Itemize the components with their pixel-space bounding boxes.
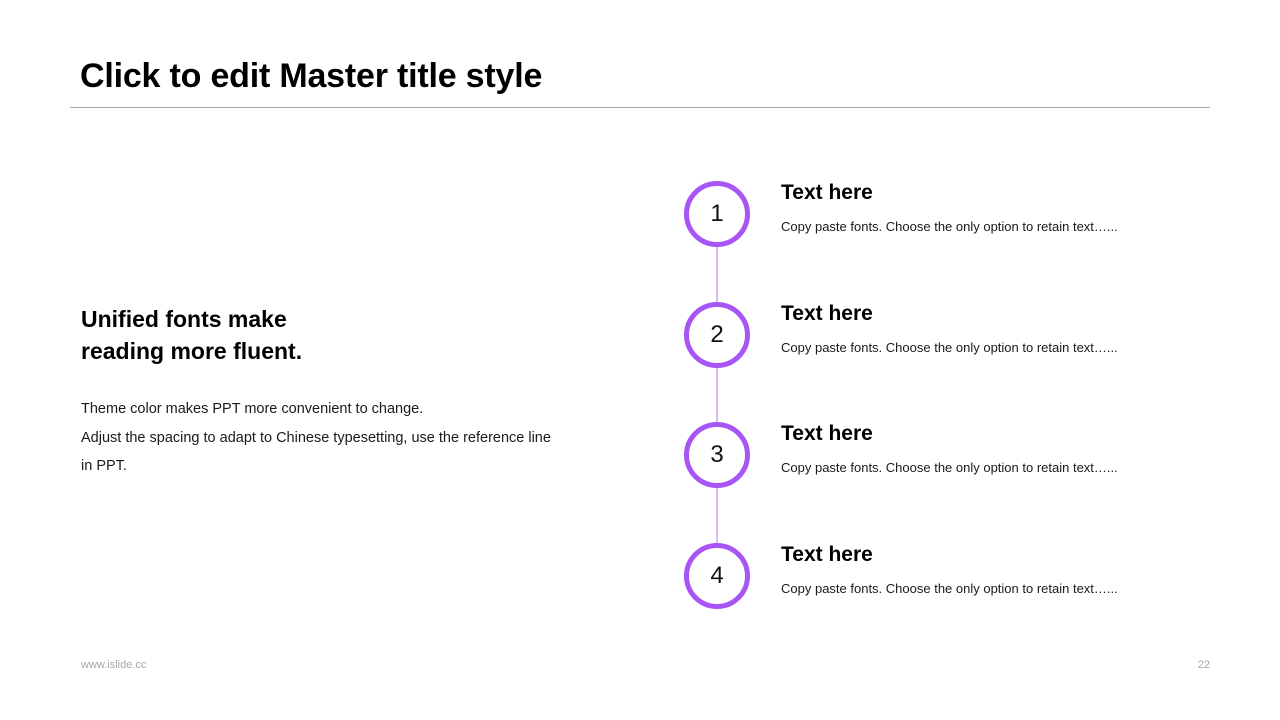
- timeline-item-description[interactable]: Copy paste fonts. Choose the only option…: [781, 219, 1181, 236]
- timeline-item[interactable]: 3 Text here Copy paste fonts. Choose the…: [684, 422, 1184, 488]
- page-title[interactable]: Click to edit Master title style: [80, 58, 1210, 95]
- left-body-line-1: Theme color makes PPT more convenient to…: [81, 395, 606, 423]
- timeline-connector-1-2: [716, 247, 718, 302]
- left-heading-line-2: reading more fluent.: [81, 336, 606, 368]
- timeline-item-heading[interactable]: Text here: [781, 421, 1181, 446]
- timeline-item[interactable]: 2 Text here Copy paste fonts. Choose the…: [684, 302, 1184, 368]
- timeline-item[interactable]: 4 Text here Copy paste fonts. Choose the…: [684, 543, 1184, 609]
- timeline-step-marker[interactable]: 1: [684, 181, 750, 247]
- timeline-connector-2-3: [716, 368, 718, 422]
- timeline-item-heading[interactable]: Text here: [781, 180, 1181, 205]
- timeline-step-number: 1: [710, 202, 723, 226]
- timeline-item-heading[interactable]: Text here: [781, 542, 1181, 567]
- timeline-item-description[interactable]: Copy paste fonts. Choose the only option…: [781, 581, 1181, 598]
- timeline-list: 1 Text here Copy paste fonts. Choose the…: [684, 181, 1184, 611]
- timeline-item-heading[interactable]: Text here: [781, 301, 1181, 326]
- timeline-connector-3-4: [716, 488, 718, 543]
- left-text-column: Unified fonts make reading more fluent. …: [81, 304, 606, 480]
- footer-website[interactable]: www.islide.cc: [81, 659, 146, 671]
- timeline-step-marker[interactable]: 2: [684, 302, 750, 368]
- slide-canvas: Click to edit Master title style Unified…: [0, 0, 1280, 720]
- timeline-item-text: Text here Copy paste fonts. Choose the o…: [781, 301, 1181, 357]
- timeline-item-text: Text here Copy paste fonts. Choose the o…: [781, 180, 1181, 236]
- timeline-item-description[interactable]: Copy paste fonts. Choose the only option…: [781, 340, 1181, 357]
- timeline-item-description[interactable]: Copy paste fonts. Choose the only option…: [781, 460, 1181, 477]
- timeline-step-number: 3: [710, 443, 723, 467]
- timeline-item-text: Text here Copy paste fonts. Choose the o…: [781, 421, 1181, 477]
- left-body-line-2: Adjust the spacing to adapt to Chinese t…: [81, 424, 606, 452]
- left-heading[interactable]: Unified fonts make reading more fluent.: [81, 304, 606, 367]
- timeline-step-marker[interactable]: 4: [684, 543, 750, 609]
- timeline-step-number: 4: [710, 564, 723, 588]
- timeline-item[interactable]: 1 Text here Copy paste fonts. Choose the…: [684, 181, 1184, 247]
- timeline-step-marker[interactable]: 3: [684, 422, 750, 488]
- left-heading-line-1: Unified fonts make: [81, 304, 606, 336]
- timeline-step-number: 2: [710, 323, 723, 347]
- title-divider: [70, 107, 1210, 108]
- timeline-item-text: Text here Copy paste fonts. Choose the o…: [781, 542, 1181, 598]
- left-body-line-3: in PPT.: [81, 452, 606, 480]
- title-block: Click to edit Master title style: [80, 58, 1210, 95]
- left-body-text[interactable]: Theme color makes PPT more convenient to…: [81, 395, 606, 480]
- slide-page-number: 22: [1160, 659, 1210, 671]
